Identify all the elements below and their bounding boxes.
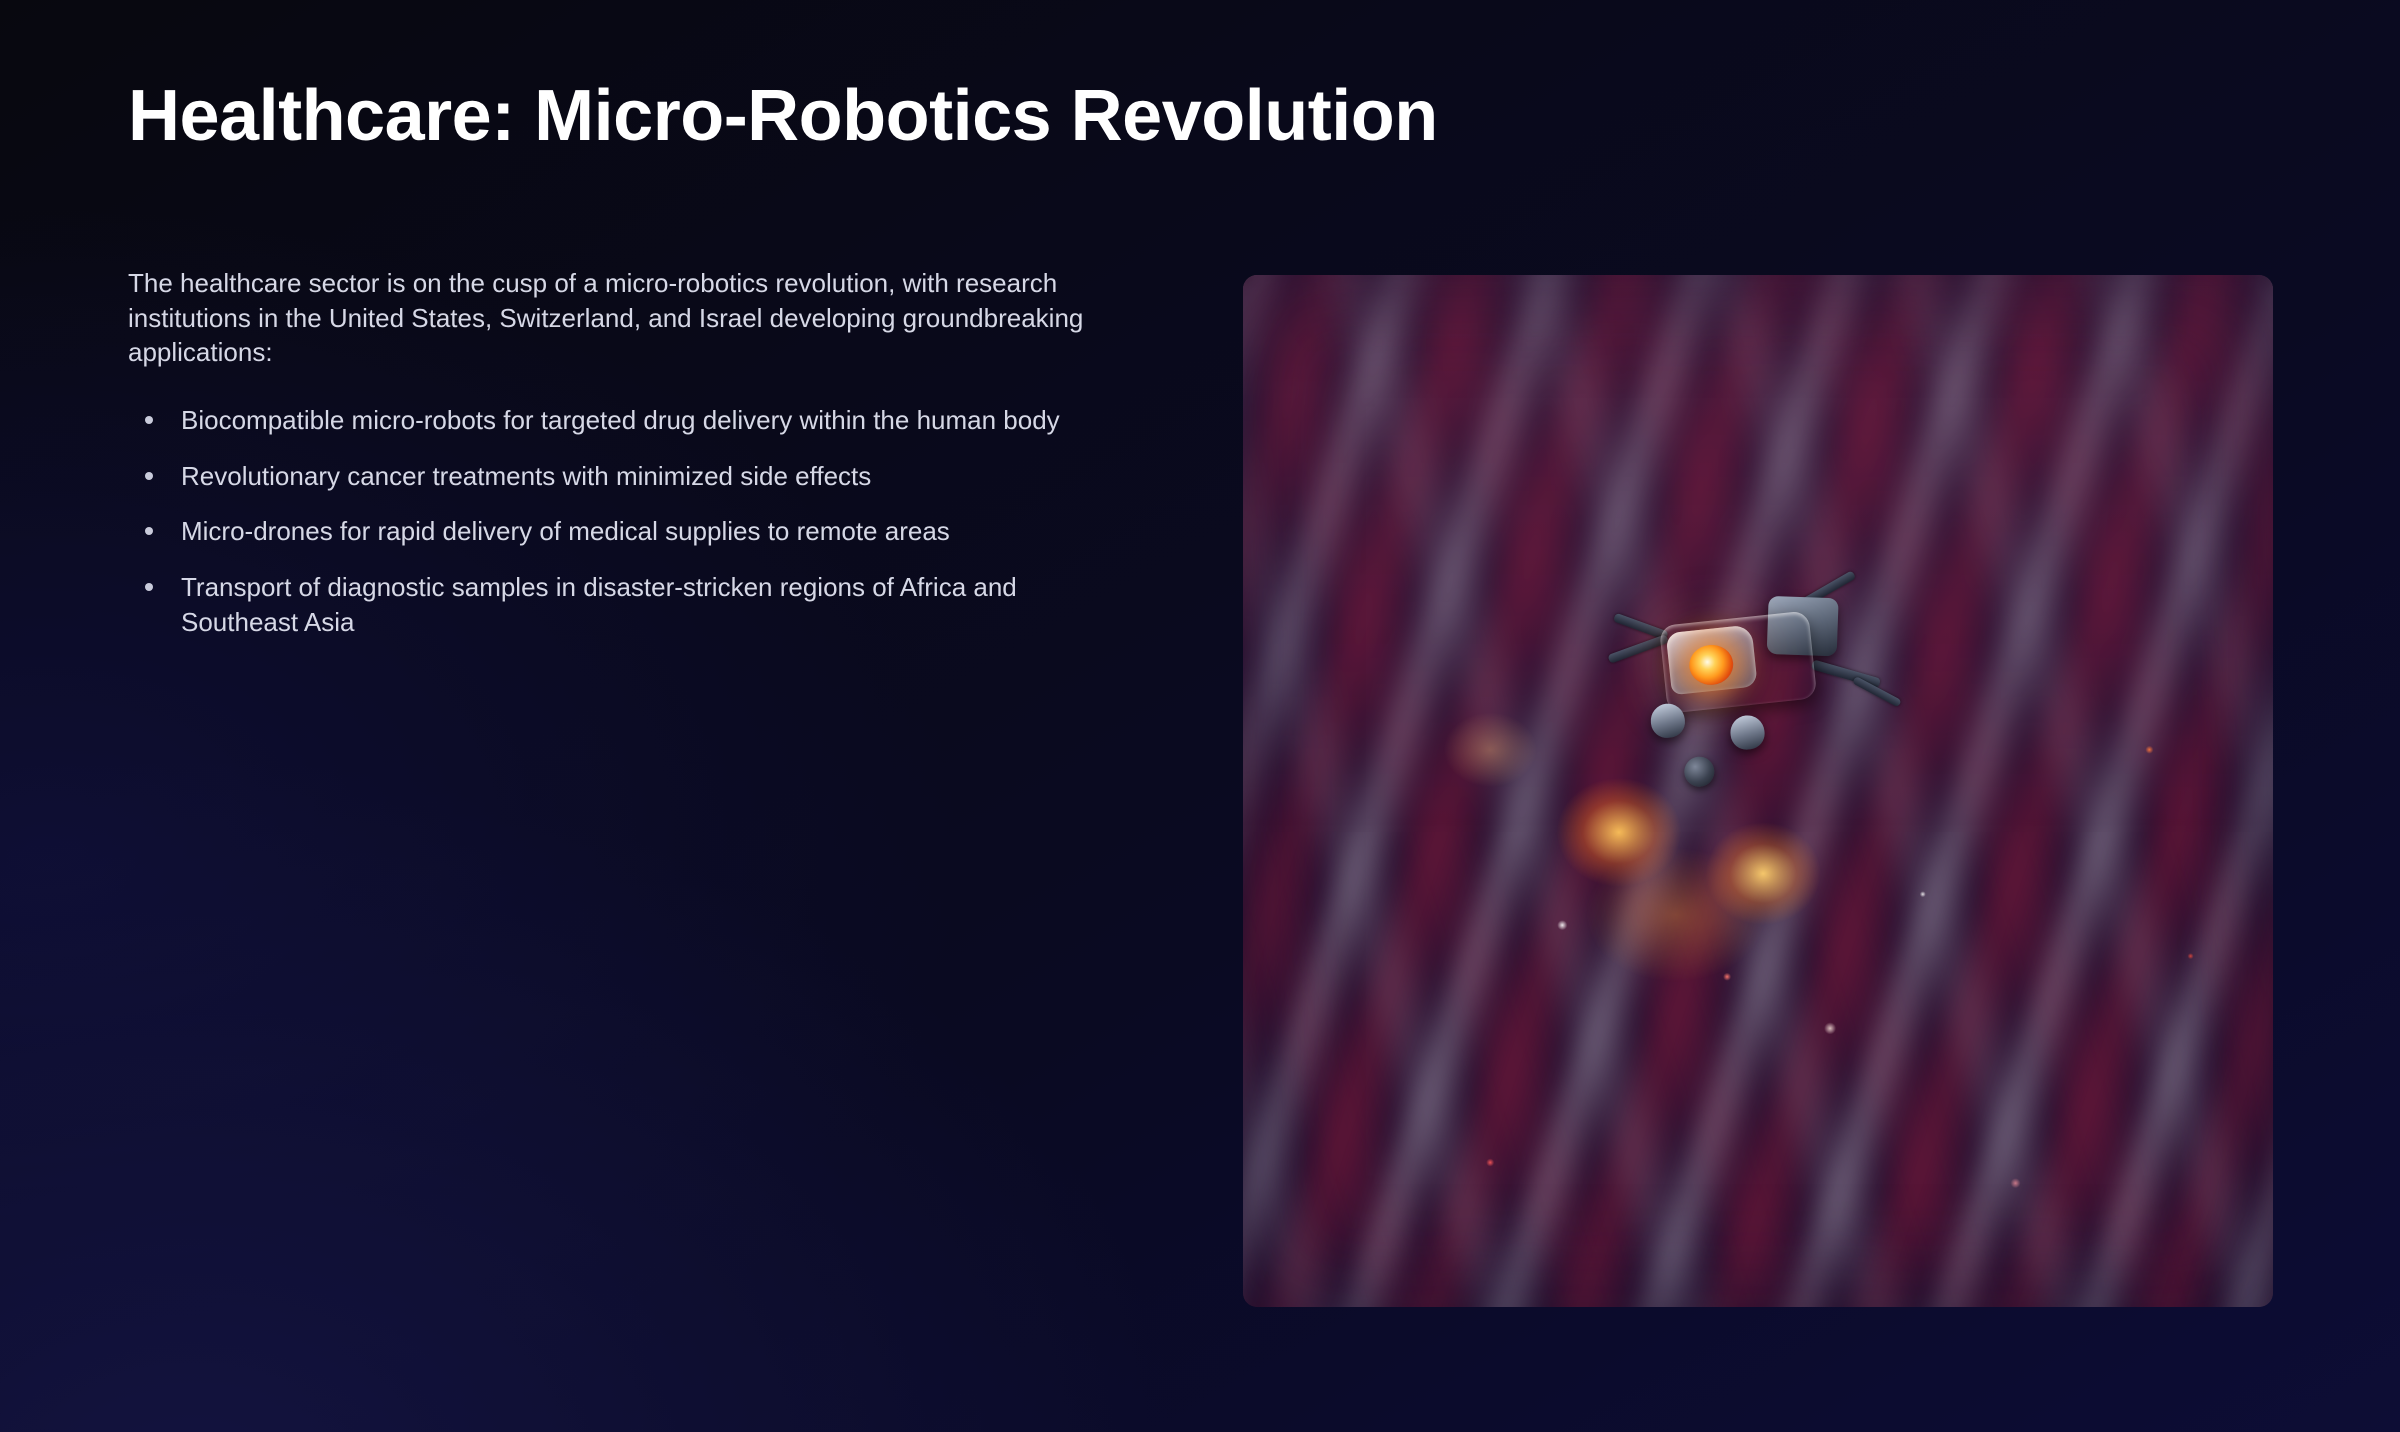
page-title: Healthcare: Micro-Robotics Revolution [128, 78, 1188, 154]
slide-content: Healthcare: Micro-Robotics Revolution Th… [128, 78, 1188, 639]
list-item: Transport of diagnostic samples in disas… [128, 570, 1138, 639]
micro-robot-image [1243, 275, 2273, 1307]
dot-bullet-icon [145, 527, 153, 535]
dot-bullet-icon [145, 583, 153, 591]
list-item-label: Micro-drones for rapid delivery of medic… [181, 516, 950, 546]
robot-wheel [1683, 755, 1716, 788]
robot-thruster-pod [1729, 714, 1766, 751]
dot-bullet-icon [145, 472, 153, 480]
list-item: Micro-drones for rapid delivery of medic… [128, 514, 1138, 549]
list-item: Revolutionary cancer treatments with min… [128, 459, 1138, 494]
list-item-label: Transport of diagnostic samples in disas… [181, 572, 1017, 637]
micro-robot-icon [1603, 560, 1915, 819]
list-item-label: Revolutionary cancer treatments with min… [181, 461, 871, 491]
presentation-slide: Healthcare: Micro-Robotics Revolution Th… [0, 0, 2400, 1432]
list-item-label: Biocompatible micro-robots for targeted … [181, 405, 1060, 435]
list-item: Biocompatible micro-robots for targeted … [128, 403, 1138, 438]
feature-bullet-list: Biocompatible micro-robots for targeted … [128, 403, 1138, 639]
intro-paragraph: The healthcare sector is on the cusp of … [128, 266, 1128, 369]
dot-bullet-icon [145, 416, 153, 424]
